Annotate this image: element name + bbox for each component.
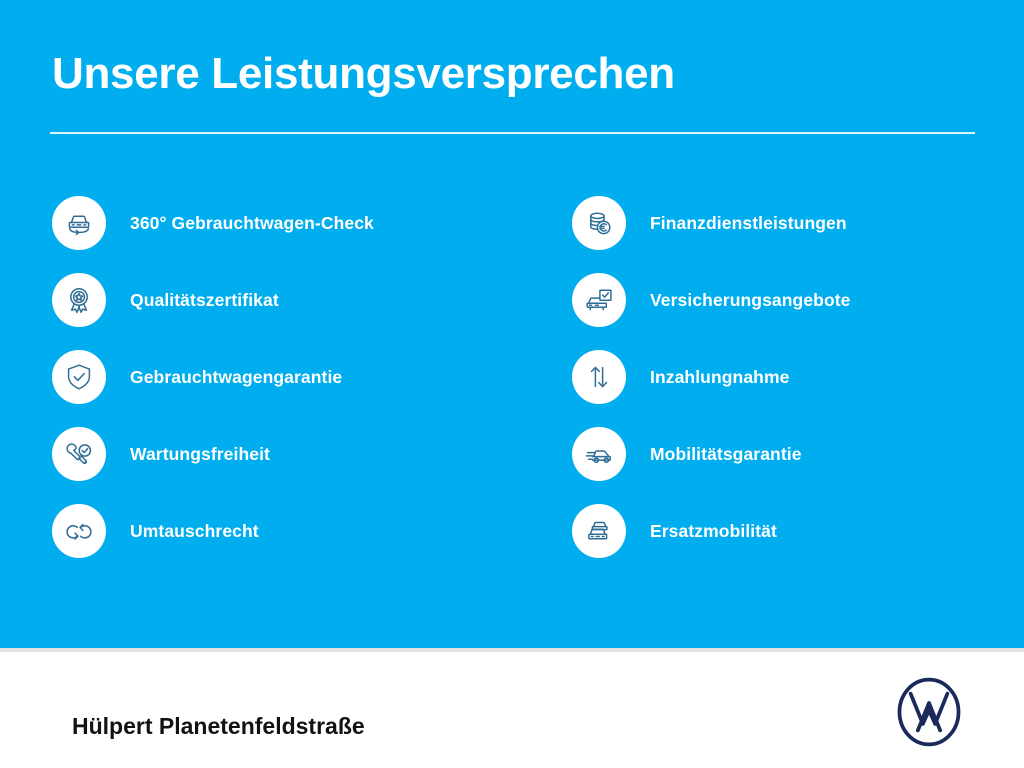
feature-label: 360° Gebrauchtwagen-Check <box>130 213 374 234</box>
footer-bar: Hülpert Planetenfeldstraße <box>0 652 1024 768</box>
volkswagen-logo <box>893 676 965 748</box>
feature-label: Umtauschrecht <box>130 521 259 542</box>
two-cars-icon <box>572 504 626 558</box>
wrench-check-icon <box>52 427 106 481</box>
feature-label: Wartungsfreiheit <box>130 444 270 465</box>
feature-item-gebrauchtwagen-check[interactable]: 360° Gebrauchtwagen-Check <box>52 196 522 250</box>
feature-column-right: Finanzdienstleistungen <box>572 196 1022 558</box>
title-divider <box>50 132 975 134</box>
feature-label: Versicherungsangebote <box>650 290 851 311</box>
car-check-icon <box>572 273 626 327</box>
feature-item-gebrauchtwagengarantie[interactable]: Gebrauchtwagengarantie <box>52 350 522 404</box>
feature-item-finanzdienstleistungen[interactable]: Finanzdienstleistungen <box>572 196 1022 250</box>
hero-panel: Unsere Leistungsversprechen <box>0 0 1024 648</box>
feature-label: Qualitätszertifikat <box>130 290 279 311</box>
shield-check-icon <box>52 350 106 404</box>
feature-label: Mobilitätsgarantie <box>650 444 802 465</box>
slide-canvas: Unsere Leistungsversprechen <box>0 0 1024 768</box>
feature-label: Ersatzmobilität <box>650 521 777 542</box>
page-title: Unsere Leistungsversprechen <box>52 48 675 100</box>
award-ribbon-icon <box>52 273 106 327</box>
coins-euro-icon <box>572 196 626 250</box>
feature-label: Gebrauchtwagengarantie <box>130 367 342 388</box>
car-rotate-icon <box>52 196 106 250</box>
feature-column-left: 360° Gebrauchtwagen-Check Qualitätszerti… <box>52 196 522 558</box>
feature-label: Finanzdienstleistungen <box>650 213 847 234</box>
feature-item-ersatzmobilitaet[interactable]: Ersatzmobilität <box>572 504 1022 558</box>
feature-item-mobilitaetsgarantie[interactable]: Mobilitätsgarantie <box>572 427 1022 481</box>
feature-item-inzahlungnahme[interactable]: Inzahlungnahme <box>572 350 1022 404</box>
feature-item-wartungsfreiheit[interactable]: Wartungsfreiheit <box>52 427 522 481</box>
dealer-name: Hülpert Planetenfeldstraße <box>72 712 365 740</box>
feature-label: Inzahlungnahme <box>650 367 789 388</box>
arrows-up-down-icon <box>572 350 626 404</box>
feature-item-qualitaetszertifikat[interactable]: Qualitätszertifikat <box>52 273 522 327</box>
feature-item-versicherungsangebote[interactable]: Versicherungsangebote <box>572 273 1022 327</box>
car-motion-icon <box>572 427 626 481</box>
feature-item-umtauschrecht[interactable]: Umtauschrecht <box>52 504 522 558</box>
exchange-arrows-icon <box>52 504 106 558</box>
